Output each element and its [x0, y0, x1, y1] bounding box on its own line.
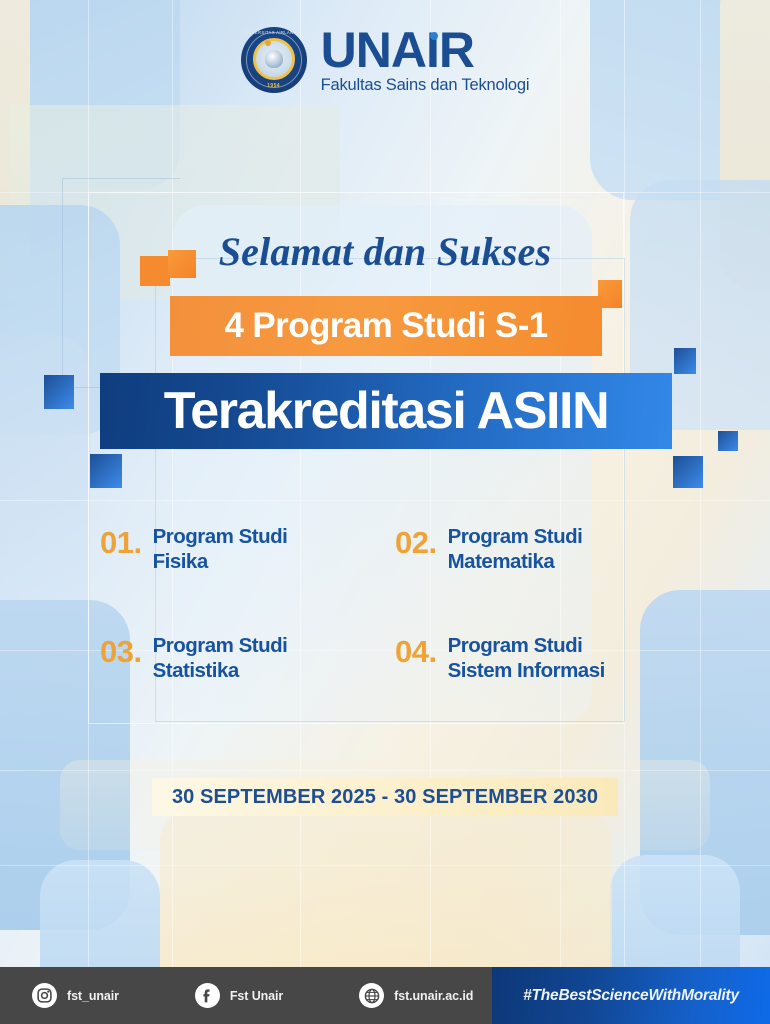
footer-hashtag: #TheBestScienceWithMorality [523, 987, 739, 1005]
seal-inner-disc [253, 38, 295, 80]
program-name: Program Studi Sistem Informasi [448, 633, 605, 684]
program-name-line1: Program Studi [153, 633, 288, 658]
brand-name: UNAIR [321, 26, 530, 75]
social-label: Fst Unair [230, 989, 283, 1003]
program-name-line1: Program Studi [448, 524, 583, 549]
program-number: 01. [100, 524, 142, 558]
instagram-icon [32, 983, 57, 1008]
social-facebook[interactable]: Fst Unair [195, 983, 283, 1008]
grid-line-horizontal [0, 770, 770, 771]
blue-headline-band: Terakreditasi ASIIN [100, 373, 672, 449]
brand-subtitle: Fakultas Sains dan Teknologi [321, 76, 530, 95]
program-number: 02. [395, 524, 437, 558]
social-instagram[interactable]: fst_unair [32, 983, 119, 1008]
grid-line-horizontal [0, 865, 770, 866]
headline-kicker: Selamat dan Sukses [0, 228, 770, 275]
program-name: Program Studi Statistika [153, 633, 288, 684]
program-name-line2: Matematika [448, 549, 583, 574]
decorative-square-orange [140, 256, 170, 286]
program-item: 03. Program Studi Statistika [100, 633, 395, 684]
validity-text: 30 SEPTEMBER 2025 - 30 SEPTEMBER 2030 [172, 786, 598, 809]
program-name-line2: Sistem Informasi [448, 658, 605, 683]
brand-dot-accent-icon [430, 32, 438, 40]
decorative-square-blue [718, 431, 738, 451]
decorative-square-blue [674, 348, 696, 374]
program-name-line1: Program Studi [448, 633, 605, 658]
program-number: 03. [100, 633, 142, 667]
program-list: 01. Program Studi Fisika 02. Program Stu… [100, 524, 690, 684]
decorative-square-blue [673, 456, 703, 488]
footer-hashtag-panel: #TheBestScienceWithMorality [492, 967, 770, 1024]
decorative-square-blue [44, 375, 74, 409]
poster-canvas: UNIVERSITAS AIRLANGGA 1954 UNAIR Fakulta… [0, 0, 770, 1024]
seal-emblem [265, 50, 283, 68]
program-name-line2: Statistika [153, 658, 288, 683]
grid-line-vertical [700, 0, 701, 1024]
social-label: fst.unair.ac.id [394, 989, 473, 1003]
unair-seal-icon: UNIVERSITAS AIRLANGGA 1954 [241, 27, 307, 93]
brand-name-text: UNAIR [321, 26, 474, 75]
program-item: 04. Program Studi Sistem Informasi [395, 633, 690, 684]
social-label: fst_unair [67, 989, 119, 1003]
seal-outer-text: UNIVERSITAS AIRLANGGA [241, 30, 307, 35]
decorative-square-orange [168, 250, 196, 278]
poster-header: UNIVERSITAS AIRLANGGA 1954 UNAIR Fakulta… [0, 0, 770, 120]
program-name-line1: Program Studi [153, 524, 288, 549]
social-website[interactable]: fst.unair.ac.id [359, 983, 473, 1008]
program-name-line2: Fisika [153, 549, 288, 574]
seal-year: 1954 [241, 83, 307, 89]
program-name: Program Studi Matematika [448, 524, 583, 575]
globe-icon [359, 983, 384, 1008]
validity-band: 30 SEPTEMBER 2025 - 30 SEPTEMBER 2030 [152, 778, 618, 816]
program-name: Program Studi Fisika [153, 524, 288, 575]
program-item: 02. Program Studi Matematika [395, 524, 690, 575]
footer-socials: fst_unair Fst Unair [0, 967, 492, 1024]
orange-headline-band: 4 Program Studi S-1 [170, 296, 602, 356]
facebook-icon [195, 983, 220, 1008]
blue-band-text: Terakreditasi ASIIN [164, 381, 608, 441]
program-item: 01. Program Studi Fisika [100, 524, 395, 575]
seal-accent-dot [265, 40, 271, 46]
decorative-square-blue [90, 454, 122, 488]
orange-band-text: 4 Program Studi S-1 [224, 306, 547, 346]
poster-footer: fst_unair Fst Unair [0, 967, 770, 1024]
program-number: 04. [395, 633, 437, 667]
brand-lockup: UNAIR Fakultas Sains dan Teknologi [321, 26, 530, 95]
